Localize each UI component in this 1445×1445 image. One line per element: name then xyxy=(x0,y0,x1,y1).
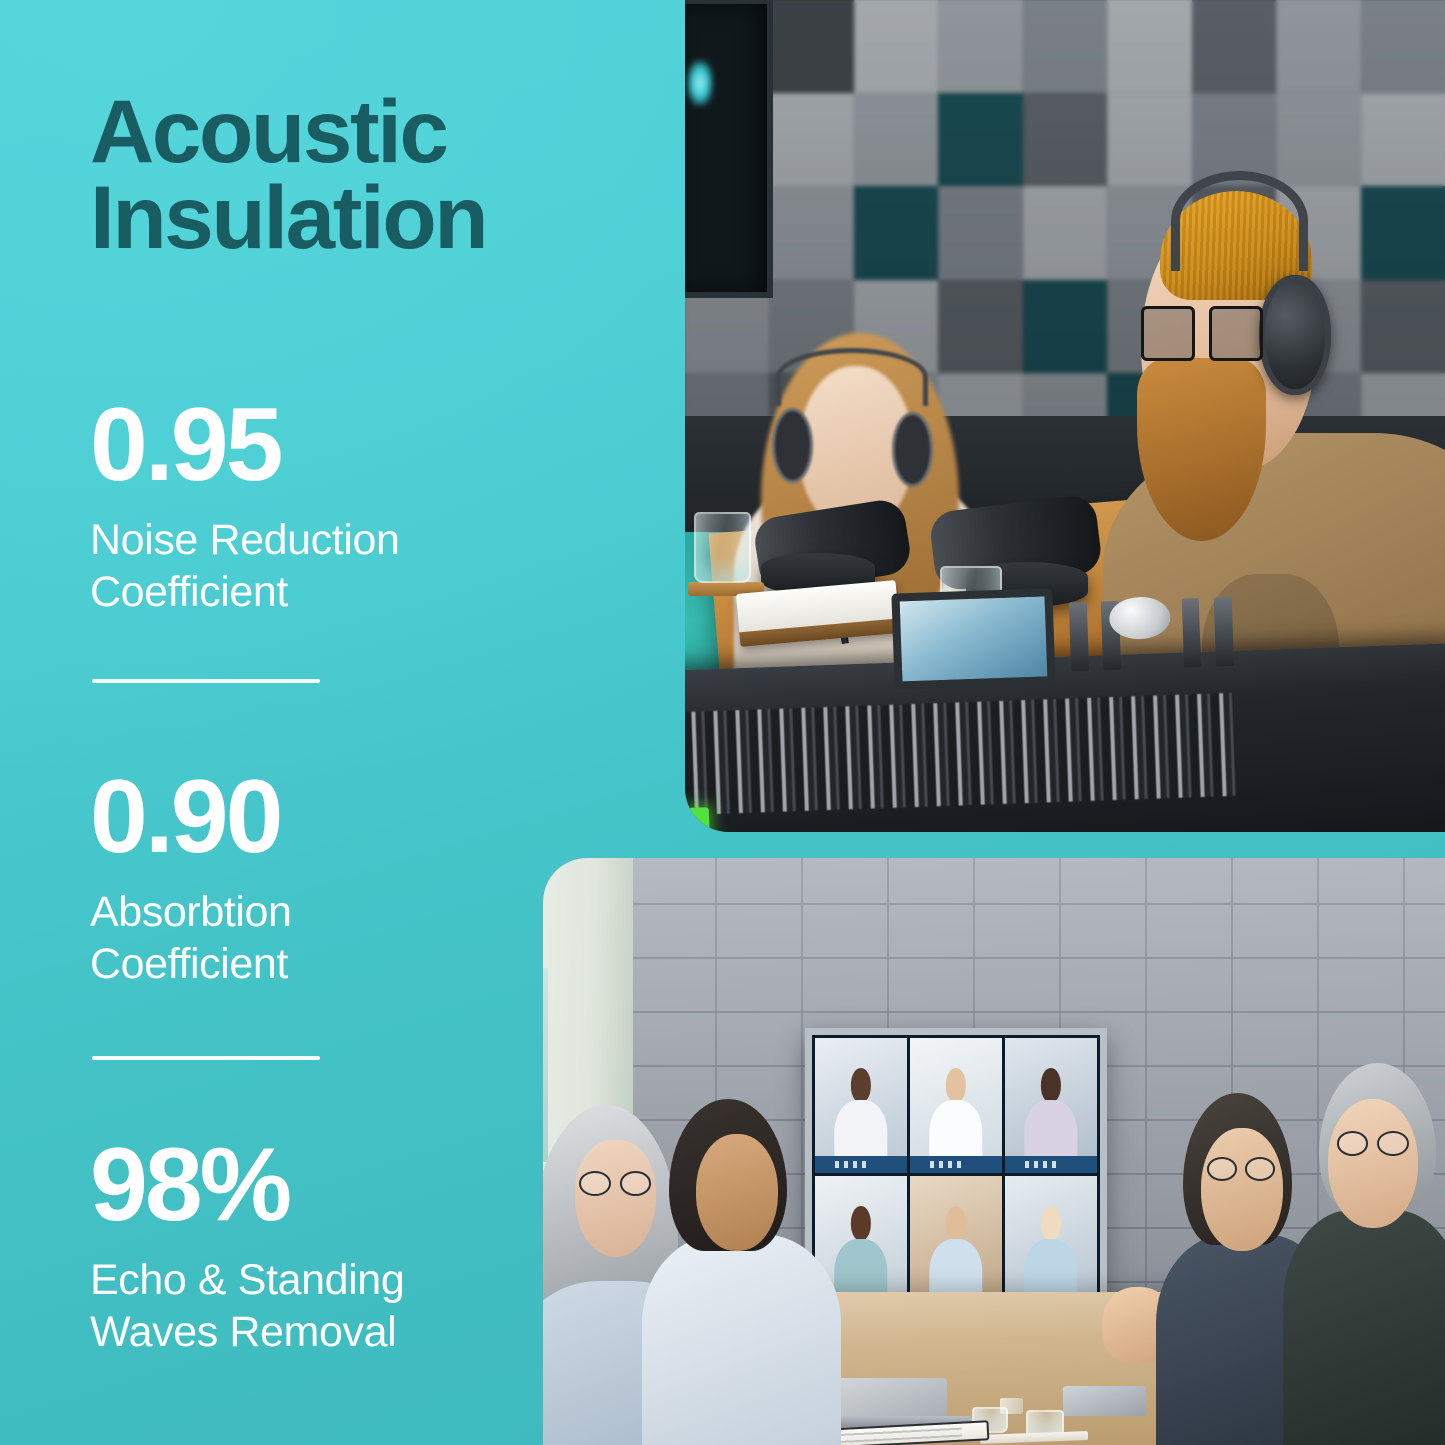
headphones-band-icon xyxy=(776,348,928,406)
podcast-studio-photo xyxy=(685,0,1445,832)
participant-head xyxy=(1041,1206,1061,1241)
tile-ui-bar xyxy=(815,1156,907,1174)
video-call-tile xyxy=(1005,1038,1097,1173)
console-strip xyxy=(1213,598,1233,667)
stat-label-line-1: Noise Reduction xyxy=(90,515,650,567)
page-title-line-2: Insulation xyxy=(90,174,690,260)
spiral-notebook xyxy=(980,1431,1088,1444)
page-title-line-1: Acoustic xyxy=(90,88,690,174)
lens-left xyxy=(1141,306,1195,361)
headphones-band-icon xyxy=(1171,171,1308,271)
headphone-cup-right xyxy=(892,412,933,487)
lens-right xyxy=(1209,306,1263,361)
headphone-cup-right xyxy=(1259,275,1331,396)
attendee-gray-hair-man-face xyxy=(1328,1099,1418,1228)
participant-head xyxy=(946,1206,966,1241)
stat-label: Noise Reduction Coefficient xyxy=(90,515,650,618)
monitor-glow xyxy=(687,60,713,106)
attendee-bearded-man-face xyxy=(1201,1128,1282,1251)
status-led-green xyxy=(689,807,709,832)
eyeglasses-icon xyxy=(1141,306,1263,361)
lens-right xyxy=(1245,1157,1275,1180)
stat-value: 0.90 xyxy=(90,765,650,869)
stat-label-line-2: Coefficient xyxy=(90,567,650,619)
eyeglasses-icon xyxy=(1337,1131,1409,1156)
wall-monitor xyxy=(685,0,773,298)
video-call-tile xyxy=(910,1038,1002,1173)
attendee-dark-hair-man-face xyxy=(696,1134,777,1251)
console-strip xyxy=(1068,603,1088,672)
lens-right xyxy=(1377,1131,1409,1156)
lens-left xyxy=(1337,1131,1369,1156)
attendee-gray-hair-woman-face xyxy=(575,1140,656,1257)
participant-head xyxy=(850,1206,870,1241)
lens-right xyxy=(620,1171,652,1196)
water-glass xyxy=(694,512,751,584)
divider xyxy=(92,679,320,683)
console-faders xyxy=(685,693,1236,816)
attendee-dark-hair-man-body xyxy=(642,1234,840,1445)
eyeglasses-icon xyxy=(1207,1157,1276,1180)
tile-ui-bar xyxy=(910,1156,1002,1174)
participant-head xyxy=(1041,1068,1061,1103)
page-title: Acoustic Insulation xyxy=(90,88,690,261)
tile-ui-bar xyxy=(1005,1156,1097,1174)
stat-value: 0.95 xyxy=(90,393,650,497)
conference-room-photo xyxy=(543,858,1445,1445)
attendee-gray-hair-man-body xyxy=(1283,1210,1445,1445)
console-strip xyxy=(1181,599,1201,668)
lens-left xyxy=(579,1171,611,1196)
mixing-console xyxy=(685,643,1445,832)
door-glass-pane xyxy=(543,968,548,1162)
participant-head xyxy=(850,1068,870,1103)
video-conference-screen xyxy=(805,1028,1107,1322)
console-display xyxy=(891,588,1055,689)
lens-left xyxy=(1207,1157,1237,1180)
headphone-cup-left xyxy=(772,408,813,483)
laptop-screen xyxy=(823,1378,947,1418)
laptop-screen xyxy=(1063,1386,1146,1417)
participant-head xyxy=(946,1068,966,1103)
divider xyxy=(92,1056,320,1060)
stat-noise-reduction-coefficient: 0.95 Noise Reduction Coefficient xyxy=(90,393,650,618)
video-call-tile xyxy=(815,1038,907,1173)
eyeglasses-icon xyxy=(579,1171,651,1196)
